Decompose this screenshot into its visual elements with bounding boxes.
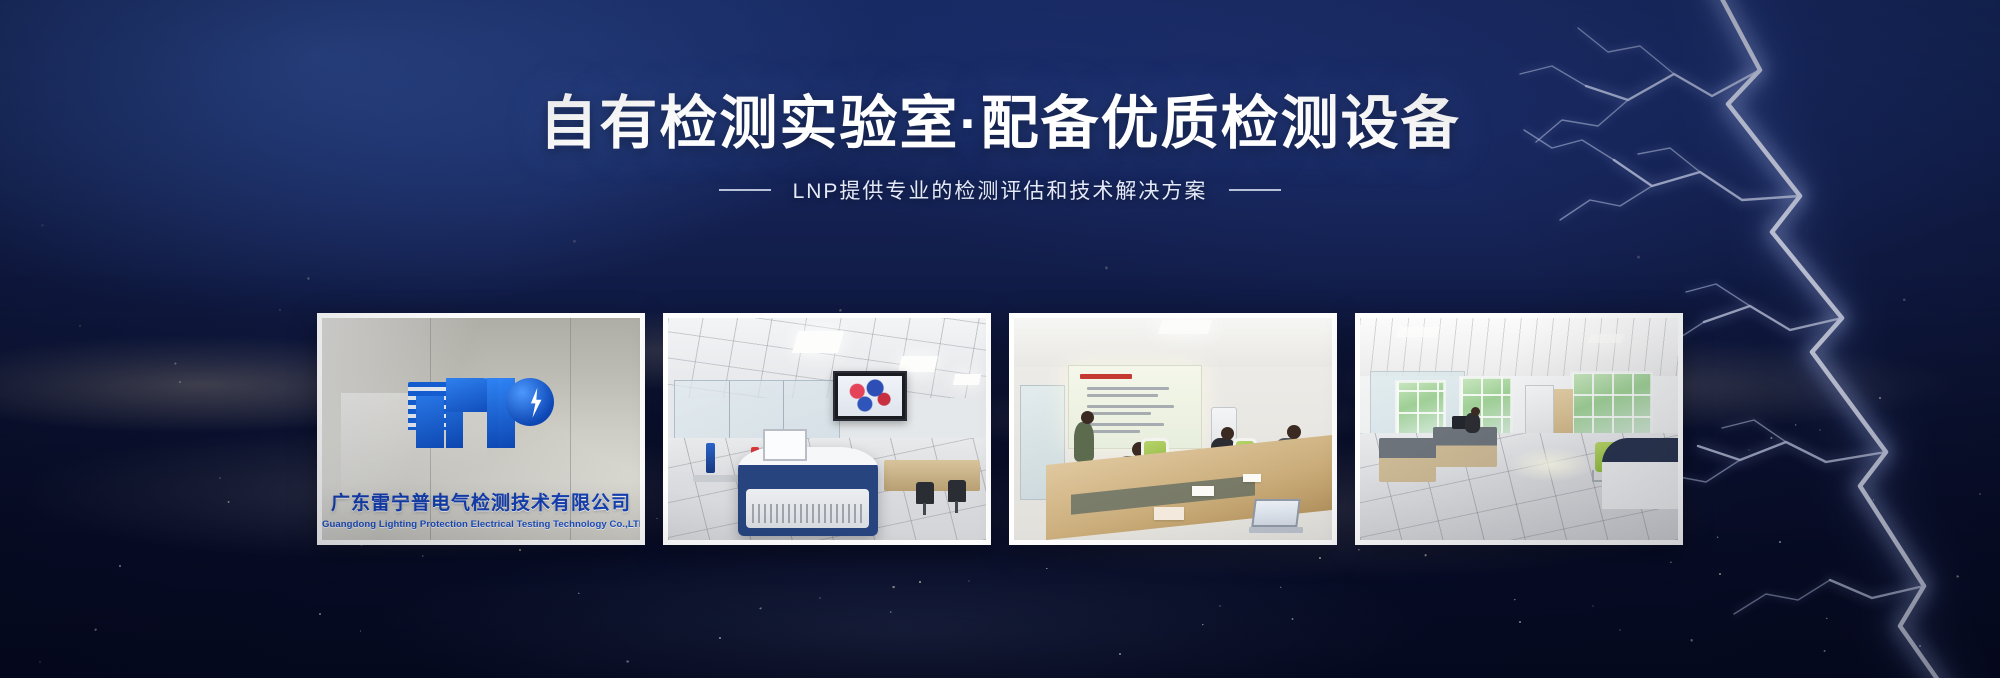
lab-chair-2 (948, 480, 966, 502)
lnp-logo-icon (406, 366, 556, 448)
lab-ceiling-light-2 (898, 356, 938, 372)
lab-ceiling-light-1 (792, 331, 844, 353)
right-rule-divider (1229, 189, 1281, 191)
office-desk-side (1379, 438, 1436, 482)
laptop-screen (1252, 499, 1301, 527)
hero-subtitle-row: LNP提供专业的检测评估和技术解决方案 (0, 175, 2000, 205)
logo-letter-n-arc (446, 378, 504, 412)
document-on-table-3 (1243, 474, 1261, 482)
photo-gallery-strip: 广东雷宁普电气检测技术有限公司 Guangdong Lighting Prote… (0, 313, 2000, 545)
company-name-english: Guangdong Lighting Protection Electrical… (322, 519, 640, 530)
document-on-table-2 (1154, 507, 1184, 520)
person-at-desk (1465, 413, 1480, 433)
gallery-photo-office-area[interactable] (1355, 313, 1683, 545)
gallery-photo-testing-lab[interactable] (663, 313, 991, 545)
sunlight-patch-floor (1506, 447, 1595, 483)
company-name-chinese: 广东雷宁普电气检测技术有限公司 (322, 488, 640, 515)
logo-letter-p (498, 378, 554, 448)
office-photo-content (1360, 318, 1678, 540)
person-presenter (1074, 422, 1094, 462)
office-ceiling-light-1 (1396, 327, 1440, 337)
office-reception-counter (1602, 438, 1678, 509)
seated-dark-head (1221, 427, 1234, 440)
lab-control-console (738, 447, 878, 536)
page-title: 自有检测实验室·配备优质检测设备 (0, 92, 2000, 157)
meeting-ceiling-light (1158, 320, 1213, 334)
slide-line-4 (1087, 412, 1150, 415)
lab-ceiling-light-3 (953, 374, 981, 385)
tv-screen-content (838, 376, 902, 416)
presenter-head (1081, 411, 1094, 424)
slide-title-bar (1080, 374, 1133, 379)
laptop-keyboard-base (1249, 527, 1303, 533)
office-window-right (1570, 371, 1653, 442)
laptop-on-table (1249, 499, 1303, 533)
signage-photo-content: 广东雷宁普电气检测技术有限公司 Guangdong Lighting Prote… (322, 318, 640, 540)
hero-copy: 自有检测实验室·配备优质检测设备 LNP提供专业的检测评估和技术解决方案 (0, 92, 2000, 205)
hero-banner: 自有检测实验室·配备优质检测设备 LNP提供专业的检测评估和技术解决方案 (0, 0, 2000, 678)
office-ceiling-light-2 (1587, 334, 1624, 343)
gallery-photo-company-signage[interactable]: 广东雷宁普电气检测技术有限公司 Guangdong Lighting Prote… (317, 313, 645, 545)
logo-letter-l (416, 396, 444, 448)
test-rig-blue-column-1 (706, 443, 715, 473)
office-desk-main (1433, 427, 1497, 467)
meeting-photo-content (1014, 318, 1332, 540)
lab-chair-1 (916, 482, 934, 504)
slide-line-5 (1087, 423, 1163, 426)
left-rule-divider (719, 189, 771, 191)
logo-letter-n (446, 378, 504, 448)
gallery-photo-meeting-room[interactable] (1009, 313, 1337, 545)
slide-line-1 (1087, 387, 1169, 390)
lab-photo-content (668, 318, 986, 540)
wall-mounted-tv (833, 371, 907, 421)
slide-line-6 (1087, 430, 1140, 433)
hero-subtitle: LNP提供专业的检测评估和技术解决方案 (793, 175, 1208, 205)
seated-right-head (1287, 425, 1301, 439)
logo-letter-p-bowl (506, 378, 554, 426)
slide-line-3 (1087, 405, 1174, 408)
console-vent-slots (752, 504, 864, 524)
window-right-mullions (1572, 373, 1651, 440)
console-monitor (763, 429, 807, 461)
document-on-table-1 (1192, 486, 1214, 496)
slide-line-2 (1087, 394, 1158, 397)
